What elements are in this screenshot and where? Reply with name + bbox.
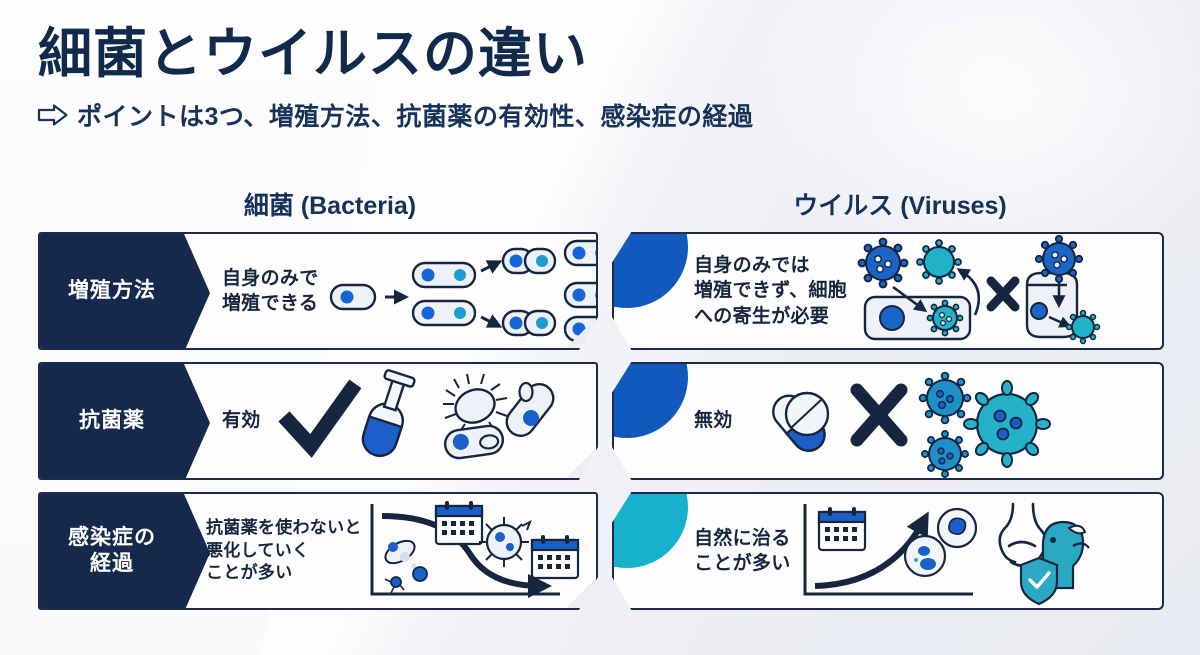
rising-curve-calendar-immunity-chart: [791, 494, 1162, 608]
page-title: 細菌とウイルスの違い: [38, 26, 753, 83]
card-body: 自然に治る ことが多い: [614, 494, 1162, 608]
comparison-row-growth: 増殖方法 自身のみで 増殖できる: [0, 232, 1200, 350]
comparison-row-course: 感染症の 経過 抗菌薬を使わないと 悪化していく ことが多い: [0, 492, 1200, 610]
statement-virus-course: 自然に治る ことが多い: [694, 526, 791, 576]
row-label-course: 感染症の 経過: [40, 494, 184, 608]
capsule-pill-cross-virus-icons: [733, 364, 1162, 478]
column-header-virus: ウイルス (Viruses): [690, 186, 1110, 222]
statement-virus-antibiotics: 無効: [694, 408, 733, 433]
card-bacteria-growth[interactable]: 増殖方法 自身のみで 増殖できる: [38, 232, 598, 350]
card-virus-growth[interactable]: 自身のみでは 増殖できず、細胞 への寄生が必要: [612, 232, 1164, 350]
statement-bacteria-growth: 自身のみで 増殖できる: [222, 266, 319, 316]
right-arrow-outline-icon: [38, 104, 68, 126]
statement-bacteria-antibiotics: 有効: [222, 408, 261, 433]
column-header-bacteria: 細菌 (Bacteria): [120, 186, 540, 222]
row-label-growth: 増殖方法: [40, 234, 184, 348]
checkmark-syringe-bacteria-icons: [261, 364, 596, 478]
card-body: 自身のみで 増殖できる: [184, 234, 596, 348]
declining-curve-calendar-bacteria-chart: [362, 494, 596, 608]
card-body: 有効: [184, 364, 596, 478]
virus-host-cell-replication-diagram: [847, 234, 1162, 348]
card-virus-antibiotics[interactable]: 無効: [612, 362, 1164, 480]
infographic-canvas: 細菌とウイルスの違い ポイントは3つ、増殖方法、抗菌薬の有効性、感染症の経過 細…: [0, 0, 1200, 655]
card-bacteria-antibiotics[interactable]: 抗菌薬 有効: [38, 362, 598, 480]
card-body: 自身のみでは 増殖できず、細胞 への寄生が必要: [614, 234, 1162, 348]
card-body: 無効: [614, 364, 1162, 478]
header: 細菌とウイルスの違い ポイントは3つ、増殖方法、抗菌薬の有効性、感染症の経過: [38, 26, 753, 133]
subtitle-row: ポイントは3つ、増殖方法、抗菌薬の有効性、感染症の経過: [38, 97, 753, 133]
subtitle: ポイントは3つ、増殖方法、抗菌薬の有効性、感染症の経過: [77, 97, 753, 133]
statement-virus-growth: 自身のみでは 増殖できず、細胞 への寄生が必要: [694, 253, 847, 328]
bacteria-binary-fission-diagram: [319, 234, 596, 348]
row-label-antibiotics: 抗菌薬: [40, 364, 184, 478]
card-virus-course[interactable]: 自然に治る ことが多い: [612, 492, 1164, 610]
statement-bacteria-course: 抗菌薬を使わないと 悪化していく ことが多い: [206, 517, 362, 584]
comparison-row-antibiotics: 抗菌薬 有効: [0, 362, 1200, 480]
card-body: 抗菌薬を使わないと 悪化していく ことが多い: [184, 494, 596, 608]
card-bacteria-course[interactable]: 感染症の 経過 抗菌薬を使わないと 悪化していく ことが多い: [38, 492, 598, 610]
